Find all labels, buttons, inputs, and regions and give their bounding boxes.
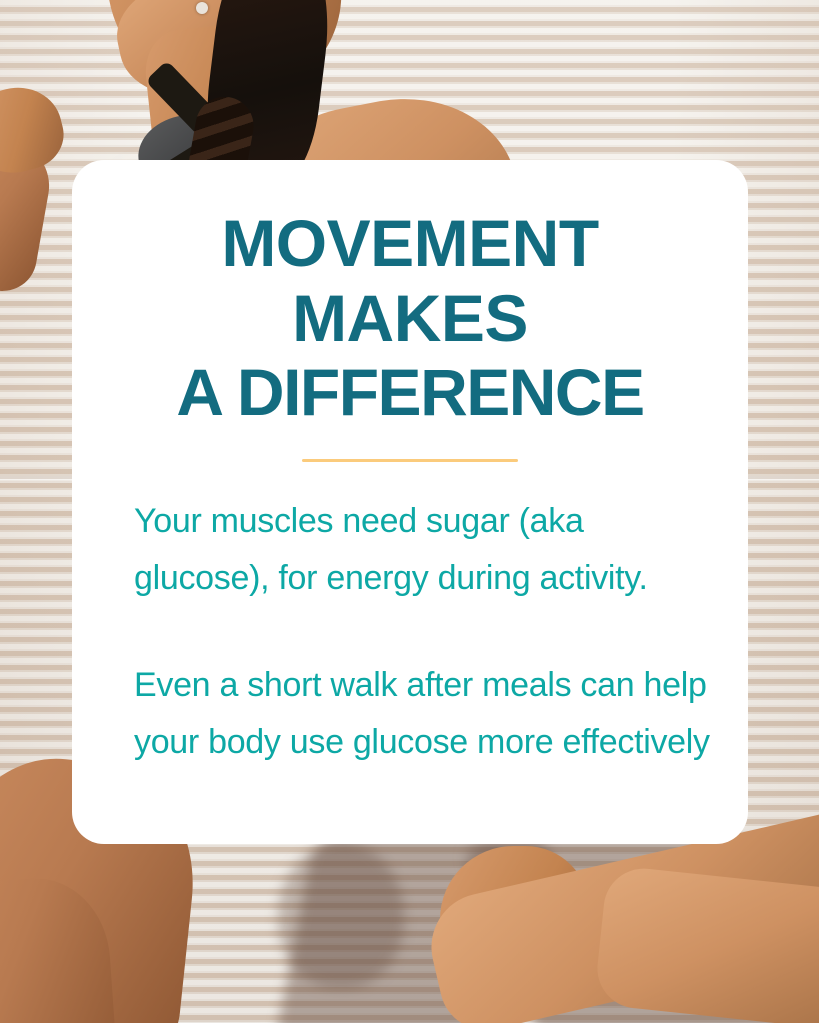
headline-line-2: MAKES [102,281,718,356]
body-paragraph-1: Your muscles need sugar (aka glucose), f… [102,493,718,607]
earring [196,2,208,14]
headline: MOVEMENT MAKES A DIFFERENCE [102,206,718,430]
runner-right-calf [594,865,819,1023]
headline-line-3: A DIFFERENCE [102,355,718,430]
poster-canvas: MOVEMENT MAKES A DIFFERENCE Your muscles… [0,0,819,1023]
body-paragraph-2: Even a short walk after meals can help y… [102,657,718,771]
headline-line-1: MOVEMENT [102,206,718,281]
headline-divider [302,459,518,462]
content-card: MOVEMENT MAKES A DIFFERENCE Your muscles… [72,160,748,844]
